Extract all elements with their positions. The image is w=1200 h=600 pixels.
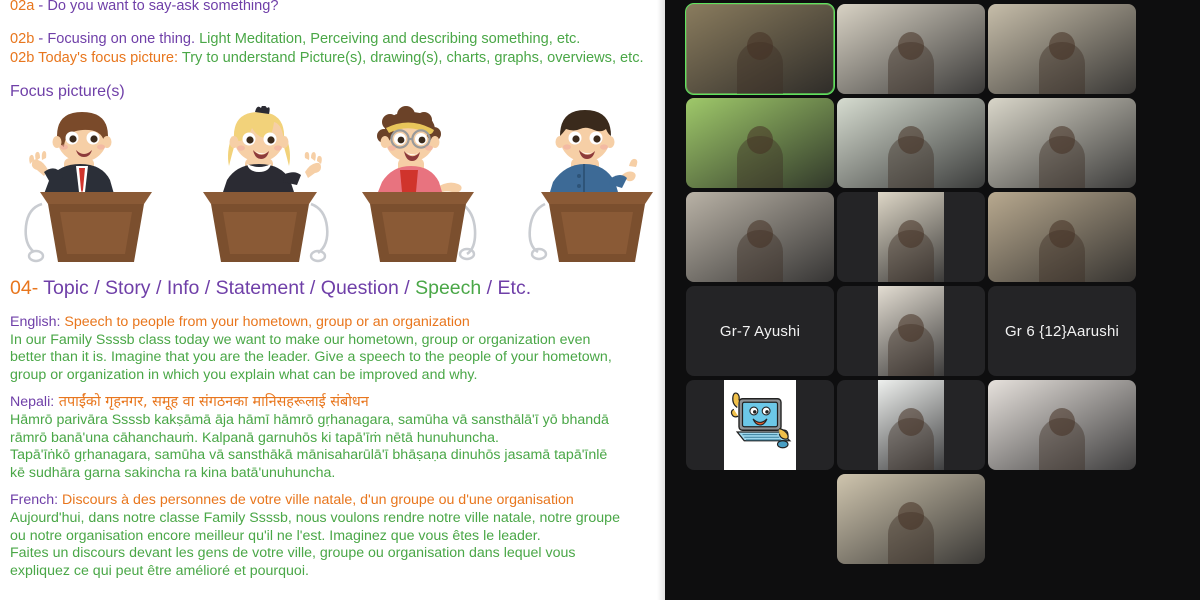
topic-sep-0: / — [89, 277, 105, 299]
section-nepali-body-2: Tapā'īṅkō gṛhanagara, samūha vā sansthāk… — [10, 447, 655, 465]
participant-video-feed — [837, 98, 985, 188]
topic-sep-2: / — [199, 277, 215, 299]
participant-video-feed — [686, 192, 834, 282]
line-02b-2-green: Try to understand Picture(s), drawing(s)… — [178, 50, 644, 66]
line-02b-2-prefix: 02b — [10, 50, 34, 66]
topic-item-1: Story — [105, 277, 151, 299]
illustration-boy-in-denim-at-podium — [515, 106, 665, 266]
slide-right-edge-shadow — [657, 0, 665, 600]
section-french-body-2: Faites un discours devant les gens de vo… — [10, 545, 655, 563]
illustration-blonde-girl-at-podium — [185, 106, 335, 266]
participant-video-feed — [878, 192, 944, 282]
illustration-boy-in-suit-at-podium — [20, 106, 170, 266]
participant-name-label: Gr-7 Ayushi — [686, 286, 834, 376]
participant-head — [1049, 408, 1075, 436]
shared-slide-panel: 02a - Do you want to say-ask something? … — [0, 0, 665, 600]
participant-video-feed — [988, 380, 1136, 470]
section-english-title: Speech to people from your hometown, gro… — [60, 314, 469, 330]
participant-head — [898, 408, 924, 436]
topic-prefix: 04- — [10, 277, 38, 299]
participant-head — [898, 220, 924, 248]
section-english-title-line: English: Speech to people from your home… — [10, 314, 655, 332]
section-nepali-label: Nepali: — [10, 394, 54, 410]
section-english-label: English: — [10, 314, 60, 330]
section-french-body-3: expliquez ce qui peut être amélioré et p… — [10, 563, 655, 581]
line-02b-focusing: 02b - Focusing on one thing. Light Medit… — [10, 30, 655, 49]
section-english-body-1: better than it is. Imagine that you are … — [10, 349, 655, 367]
line-02a: 02a - Do you want to say-ask something? — [10, 0, 655, 16]
section-english-body-2: group or organization in which you expla… — [10, 367, 655, 385]
participant-tile-3[interactable] — [686, 192, 834, 282]
participant-video-feed — [988, 192, 1136, 282]
participant-video-feed — [988, 4, 1136, 94]
participant-tile-computer-mascot[interactable] — [686, 380, 834, 470]
participant-name-label: Gr 6 {12}Aarushi — [988, 286, 1136, 376]
meeting-screen: 02a - Do you want to say-ask something? … — [0, 0, 1200, 600]
section-nepali-title: तपाईंको गृहनगर, समूह वा संगठनका मानिसहरू… — [54, 394, 369, 410]
participant-video-grid[interactable]: Gr-7 AyushiGr 6 {12}Aarushi — [665, 0, 1200, 600]
participant-tile-9[interactable] — [837, 286, 985, 376]
topic-sep-3: / — [305, 277, 321, 299]
participant-head — [747, 126, 773, 154]
line-02b-1-prefix: 02b — [10, 31, 34, 47]
computer-mascot-icon — [724, 380, 796, 470]
participant-tile-11[interactable] — [837, 474, 985, 564]
participant-video-feed — [988, 98, 1136, 188]
topic-item-0: Topic — [38, 277, 89, 299]
participant-tile-2[interactable] — [686, 98, 834, 188]
section-nepali: Nepali: तपाईंको गृहनगर, समूह वा संगठनका … — [10, 394, 655, 482]
participant-head — [1049, 220, 1075, 248]
section-nepali-title-line: Nepali: तपाईंको गृहनगर, समूह वा संगठनका … — [10, 394, 655, 412]
participant-tile-16[interactable] — [988, 380, 1136, 470]
participant-head — [1049, 32, 1075, 60]
section-french: French: Discours à des personnes de votr… — [10, 492, 655, 580]
participant-head — [898, 502, 924, 530]
topic-sep-4: / — [399, 277, 415, 299]
participant-video-feed — [878, 380, 944, 470]
participant-tile-7[interactable] — [837, 98, 985, 188]
participant-video-feed — [686, 98, 834, 188]
focus-pictures-group — [10, 106, 655, 266]
topic-item-etc: Etc. — [498, 277, 532, 299]
line-02b-1-sep: - — [34, 31, 47, 47]
topic-item-2: Info — [167, 277, 200, 299]
participant-head — [747, 220, 773, 248]
section-english: English: Speech to people from your home… — [10, 314, 655, 384]
section-french-body-1: ou notre organisation encore meilleur qu… — [10, 528, 655, 546]
participant-head — [1049, 126, 1075, 154]
line-02a-body: Do you want to say-ask something? — [47, 0, 278, 14]
participant-tile-10[interactable] — [837, 380, 985, 470]
line-02a-prefix: 02a — [10, 0, 34, 14]
section-nepali-body-1: rāmrō banā'una cāhanchauṁ. Kalpanā garnu… — [10, 430, 655, 448]
participant-tile-14[interactable] — [988, 192, 1136, 282]
participant-tile-12[interactable] — [988, 4, 1136, 94]
participant-head — [898, 314, 924, 342]
section-french-title: Discours à des personnes de votre ville … — [58, 492, 574, 508]
line-02a-sep: - — [34, 0, 47, 14]
participant-tile-1[interactable] — [686, 4, 834, 94]
participant-head — [898, 32, 924, 60]
topic-sep-5: / — [481, 277, 497, 299]
section-nepali-body-0: Hāmrō parivāra Ssssb kakṣāmā āja hāmī hā… — [10, 412, 655, 430]
line-02b-2-purple: Today's focus picture: — [34, 50, 178, 66]
participant-video-feed — [878, 286, 944, 376]
line-02b-1-green: Light Meditation, Perceiving and describ… — [195, 31, 580, 47]
participant-video-feed — [837, 474, 985, 564]
participant-video-feed — [837, 4, 985, 94]
section-english-body-0: In our Family Ssssb class today we want … — [10, 332, 655, 350]
topic-item-4: Question — [321, 277, 399, 299]
participant-tile-6[interactable] — [837, 4, 985, 94]
section-french-title-line: French: Discours à des personnes de votr… — [10, 492, 655, 510]
participant-head — [898, 126, 924, 154]
section-nepali-body-3: kē sudhāra garna sakincha ra kina batā'u… — [10, 465, 655, 483]
topic-item-3: Statement — [216, 277, 305, 299]
illustration-girl-with-glasses-at-podium — [350, 106, 500, 266]
participant-tile-13[interactable] — [988, 98, 1136, 188]
topic-heading: 04- Topic / Story / Info / Statement / Q… — [10, 276, 655, 300]
participant-tile-gr6-aarushi[interactable]: Gr 6 {12}Aarushi — [988, 286, 1136, 376]
focus-pictures-heading: Focus picture(s) — [10, 82, 655, 102]
topic-sep-1: / — [151, 277, 167, 299]
line-02b-today-focus: 02b Today's focus picture: Try to unders… — [10, 49, 655, 68]
topic-item-speech: Speech — [415, 277, 481, 299]
participant-tile-8[interactable] — [837, 192, 985, 282]
line-02b-1-purple: Focusing on one thing. — [47, 31, 195, 47]
participant-tile-gr7-ayushi[interactable]: Gr-7 Ayushi — [686, 286, 834, 376]
section-french-label: French: — [10, 492, 58, 508]
participant-head — [747, 32, 773, 60]
section-french-body-0: Aujourd'hui, dans notre classe Family Ss… — [10, 510, 655, 528]
participant-video-feed — [686, 4, 834, 94]
